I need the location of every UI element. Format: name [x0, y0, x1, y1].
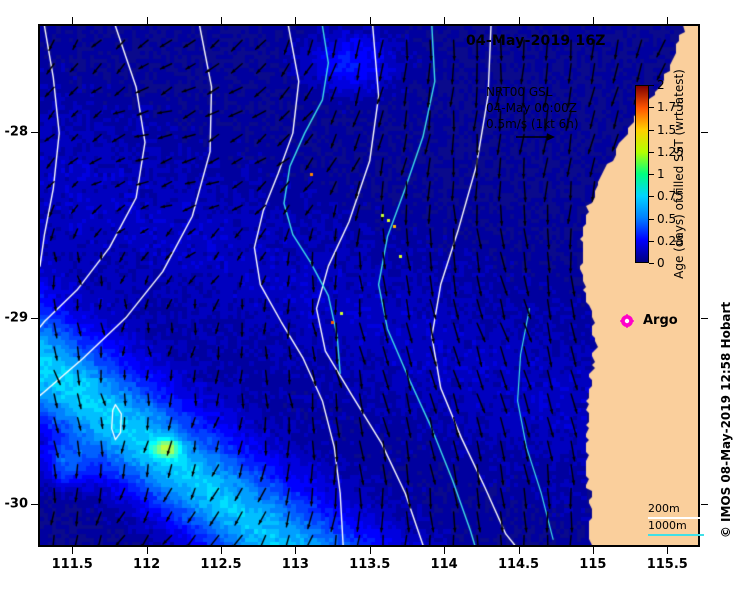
colorbar-tick	[649, 85, 654, 86]
x-tick-label: 112.5	[200, 557, 241, 572]
x-tick	[72, 547, 73, 554]
colorbar-tick-label: 1	[657, 167, 665, 181]
x-tick-label: 114	[431, 557, 458, 572]
argo-float-marker-icon	[620, 314, 634, 328]
colorbar-tick	[649, 130, 654, 131]
sst-age-map	[40, 26, 698, 545]
x-tick-top	[444, 17, 445, 24]
x-tick	[221, 547, 222, 554]
x-tick-top	[667, 17, 668, 24]
colorbar-tick	[649, 152, 654, 153]
bathy-200m-label: 200m	[648, 502, 704, 516]
bathy-1000m-rule	[648, 534, 704, 536]
y-tick-right	[701, 318, 708, 319]
colorbar-tick	[649, 219, 654, 220]
x-tick	[370, 547, 371, 554]
plot-title: 04-May-2019 16Z	[466, 33, 606, 49]
colorbar-tick	[649, 241, 654, 242]
colorbar-tick-label: 2	[657, 78, 665, 92]
y-tick	[31, 318, 38, 319]
annotation-line-scale: 0.5m/s (1kt 6h)	[486, 116, 579, 132]
figure-canvas: 111.5112112.5113113.5114114.5115115.5-28…	[0, 0, 739, 592]
x-tick-label: 111.5	[52, 557, 93, 572]
model-annotation: NRT00 GSL 04-May 00:00Z 0.5m/s (1kt 6h)	[486, 84, 579, 132]
y-tick	[31, 132, 38, 133]
velocity-scale-arrow-icon	[516, 131, 556, 143]
x-tick	[593, 547, 594, 554]
credit-text: © IMOS 08-May-2019 12:58 Hobart	[719, 302, 733, 538]
colorbar-tick	[649, 174, 654, 175]
x-tick-top	[221, 17, 222, 24]
y-tick-right	[701, 132, 708, 133]
y-tick	[31, 504, 38, 505]
y-tick-label: -28	[5, 124, 29, 139]
x-tick-top	[295, 17, 296, 24]
x-tick-top	[72, 17, 73, 24]
x-tick-top	[370, 17, 371, 24]
x-tick-label: 113	[282, 557, 309, 572]
annotation-line-date: 04-May 00:00Z	[486, 100, 579, 116]
x-tick-label: 113.5	[349, 557, 390, 572]
argo-legend: Argo	[620, 313, 678, 328]
map-plot-area	[38, 24, 700, 547]
x-tick-top	[593, 17, 594, 24]
x-tick-label: 112	[133, 557, 160, 572]
y-tick-label: -30	[5, 497, 29, 512]
x-tick	[667, 547, 668, 554]
bathymetry-legend: 200m 1000m	[648, 502, 704, 536]
x-tick	[519, 547, 520, 554]
annotation-line-model: NRT00 GSL	[486, 84, 579, 100]
x-tick-label: 115	[579, 557, 606, 572]
x-tick	[295, 547, 296, 554]
colorbar-tick	[649, 107, 654, 108]
colorbar	[635, 85, 649, 263]
colorbar-label: Age (days) of filled SST (wrt latest)	[672, 69, 686, 279]
x-tick-label: 114.5	[498, 557, 539, 572]
x-tick-top	[147, 17, 148, 24]
bathy-1000m-label: 1000m	[648, 519, 704, 533]
y-tick-label: -29	[5, 311, 29, 326]
x-tick-label: 115.5	[647, 557, 688, 572]
x-tick	[444, 547, 445, 554]
argo-legend-label: Argo	[643, 313, 678, 328]
x-tick-top	[519, 17, 520, 24]
colorbar-tick	[649, 263, 654, 264]
colorbar-tick-label: 0	[657, 256, 665, 270]
x-tick	[147, 547, 148, 554]
colorbar-tick	[649, 196, 654, 197]
